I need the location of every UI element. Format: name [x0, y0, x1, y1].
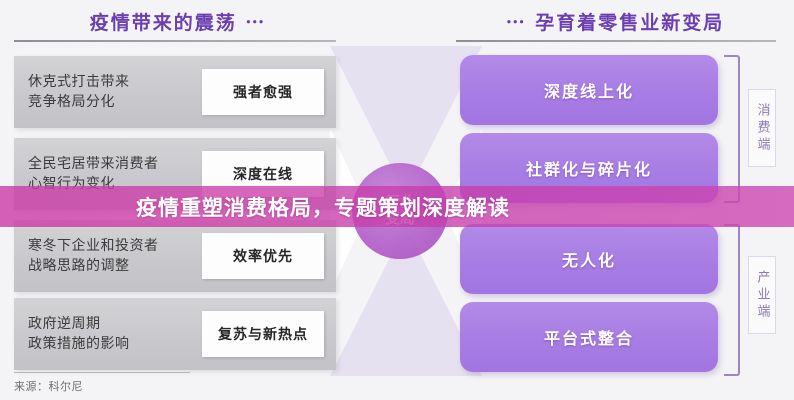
industry-group-label: 产业端 [748, 256, 776, 334]
impact-card-1: 休克式打击带来 竞争格局分化 强者愈强 [14, 56, 336, 128]
trend-card-2-label: 社群化与碎片化 [526, 156, 652, 180]
impact-card-1-text: 休克式打击带来 竞争格局分化 [28, 72, 188, 113]
trend-card-3-label: 无人化 [562, 247, 616, 271]
impact-card-2-line1: 全民宅居带来消费者 [28, 154, 203, 174]
impact-card-4: 政府逆周期 政策措施的影响 复苏与新热点 [14, 298, 336, 370]
trend-card-4-label: 平台式整合 [544, 325, 634, 349]
trend-card-4: 平台式整合 [460, 302, 718, 372]
industry-group-bracket [724, 224, 740, 376]
consumer-group-bracket [724, 55, 740, 203]
impact-card-3-text: 寒冬下企业和投资者 战略思路的调整 [28, 236, 203, 277]
source-divider [14, 372, 190, 373]
right-panel-divider [456, 40, 776, 42]
consumer-group-label: 消费端 [748, 89, 776, 167]
industry-group-label-text: 产业端 [753, 270, 772, 321]
impact-card-1-line2: 竞争格局分化 [28, 92, 188, 112]
trend-card-1-label: 深度线上化 [544, 78, 634, 102]
left-panel-divider [14, 40, 336, 42]
impact-card-1-line1: 休克式打击带来 [28, 72, 188, 92]
right-panel-title: ⋯ 孕育着零售业新变局 [455, 8, 775, 34]
impact-card-3-chip: 效率优先 [202, 233, 324, 279]
left-panel-title: 疫情带来的震荡 ⋯ [18, 8, 338, 34]
source-note: 来源：科尔尼 [14, 378, 83, 394]
trend-card-1: 深度线上化 [460, 55, 718, 125]
consumer-group-label-text: 消费端 [753, 103, 772, 154]
impact-card-3-line2: 战略思路的调整 [28, 256, 203, 276]
impact-card-4-line2: 政策措施的影响 [28, 334, 188, 354]
overlay-banner-title: 疫情重塑消费格局，专题策划深度解读 [136, 192, 510, 222]
impact-card-1-chip: 强者愈强 [202, 69, 324, 115]
impact-card-3-chip-label: 效率优先 [233, 246, 293, 266]
trend-card-3: 无人化 [460, 224, 718, 294]
impact-card-4-chip-label: 复苏与新热点 [218, 324, 308, 344]
infographic-canvas: 行业变局 疫情带来的震荡 ⋯ ⋯ 孕育着零售业新变局 休克式打击带来 竞争格局分… [0, 0, 794, 400]
impact-card-1-chip-label: 强者愈强 [233, 82, 293, 102]
impact-card-4-line1: 政府逆周期 [28, 314, 188, 334]
impact-card-2-chip-label: 深度在线 [233, 164, 293, 184]
impact-card-4-chip: 复苏与新热点 [202, 311, 324, 357]
impact-card-3-line1: 寒冬下企业和投资者 [28, 236, 203, 256]
overlay-banner: 疫情重塑消费格局，专题策划深度解读 [0, 186, 794, 227]
impact-card-4-text: 政府逆周期 政策措施的影响 [28, 314, 188, 355]
impact-card-3: 寒冬下企业和投资者 战略思路的调整 效率优先 [14, 220, 336, 292]
